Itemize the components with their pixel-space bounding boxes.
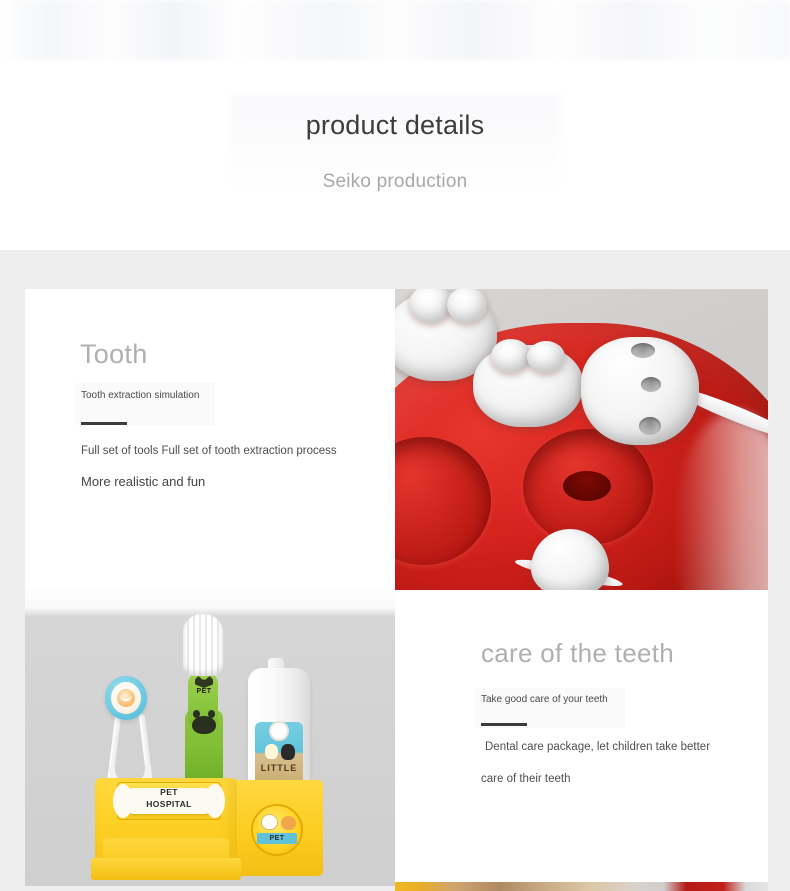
paw-print-icon <box>192 716 216 734</box>
panel-care-of-teeth: care of the teeth Take good care of your… <box>395 590 768 886</box>
tooth-piece-3-hole-2 <box>641 377 661 392</box>
pet-badge-icon <box>251 804 303 856</box>
tooth-piece-2-cusp-b <box>527 341 565 373</box>
page-header: product details Seiko production <box>0 0 790 250</box>
toothpaste-brand-text: LITTLE <box>255 763 303 773</box>
care-line-2: care of their teeth <box>481 773 571 785</box>
toothpaste-ring-icon <box>269 721 289 741</box>
panel-tooth: Tooth Tooth extraction simulation Full s… <box>25 289 395 590</box>
tooth-piece-3-hole-1 <box>631 343 655 358</box>
stand-label-line-1: PET <box>121 786 217 798</box>
photo-red-tray <box>395 289 768 590</box>
brush-brand-label: PET <box>193 686 215 698</box>
stand-foot <box>91 858 241 880</box>
header-ghost-bleed <box>0 0 790 60</box>
badge-dog-white-icon <box>261 814 278 830</box>
tooth-line-1: Full set of tools Full set of tooth extr… <box>81 445 337 457</box>
tooth-heading: Tooth <box>80 339 148 370</box>
tooth-piece-2-cusp-a <box>491 339 531 373</box>
page-subtitle: Seiko production <box>0 171 790 193</box>
set-photo-top-edge <box>25 590 395 599</box>
stand-label-text: PET HOSPITAL <box>121 786 217 810</box>
care-heading: care of the teeth <box>481 638 674 669</box>
brush-bristles <box>183 614 223 676</box>
care-line-1: Dental care package, let children take b… <box>485 741 710 753</box>
next-section-image-sliver <box>395 882 768 891</box>
dog-silhouette-icon <box>281 744 295 760</box>
tooth-subheading: Tooth extraction simulation <box>81 390 199 401</box>
tray-photo-canvas <box>395 289 768 590</box>
care-divider-rule <box>481 723 527 726</box>
care-subheading: Take good care of your teeth <box>481 694 608 705</box>
badge-dog-orange-icon <box>281 816 296 830</box>
tray-well-hole <box>563 471 611 501</box>
tooth-icon <box>265 744 278 759</box>
set-photo-canvas: PET LITTLE PET HOSPITAL <box>25 590 395 886</box>
badge-label: PET <box>257 833 297 844</box>
tooth-line-2: More realistic and fun <box>81 474 205 489</box>
tooth-divider-rule <box>81 422 127 425</box>
tooth-piece-3-hole-3 <box>639 417 661 435</box>
stand-label-line-2: HOSPITAL <box>121 798 217 810</box>
photo-toothbrush-set: PET LITTLE PET HOSPITAL <box>25 590 395 886</box>
details-card: Tooth Tooth extraction simulation Full s… <box>25 289 768 886</box>
product-details-page: product details Seiko production Tooth T… <box>0 0 790 891</box>
page-title: product details <box>0 110 790 141</box>
